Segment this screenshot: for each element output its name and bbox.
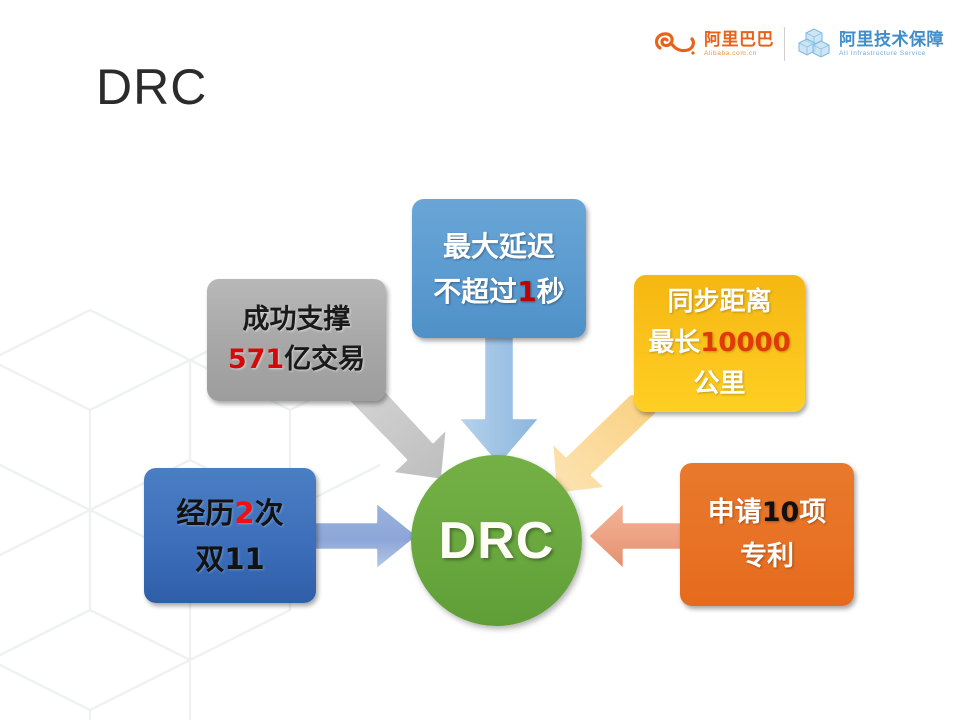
node-yellow-line-1: 同步距离 [667, 282, 771, 323]
cube-network-icon [795, 25, 833, 63]
alibaba-mark-icon [652, 27, 698, 61]
node-blue-max-latency[interactable]: 最大延迟 不超过1秒 [412, 199, 586, 338]
header-logo-bar: 阿里巴巴 Alibaba.com.cn 阿里技术保障 AI [652, 20, 944, 68]
infrastructure-logo-cn: 阿里技术保障 [839, 31, 944, 50]
node-gray-line-2: 571亿交易 [228, 340, 365, 380]
center-hub-label: DRC [439, 511, 555, 571]
node-yellow-sync-distance[interactable]: 同步距离 最长10000 公里 [634, 275, 805, 412]
slide-canvas: 阿里巴巴 Alibaba.com.cn 阿里技术保障 AI [0, 0, 960, 720]
node-orange-patents[interactable]: 申请10项 专利 [680, 463, 854, 606]
node-orange-line-1: 申请10项 [708, 491, 827, 535]
arrow-orange-to-center [588, 500, 688, 572]
arrow-blue-left-to-center [312, 500, 420, 572]
node-blue-left-line-2: 双11 [195, 536, 264, 582]
node-blue-left-line-1: 经历2次 [176, 490, 283, 536]
center-hub-drc[interactable]: DRC [411, 455, 582, 626]
node-blue-top-line-2: 不超过1秒 [433, 269, 565, 314]
arrow-blue-top-to-center [452, 330, 546, 470]
alibaba-logo-cn: 阿里巴巴 [704, 31, 774, 50]
node-yellow-line-2: 最长10000 [648, 323, 790, 364]
node-gray-line-1: 成功支撑 [243, 300, 351, 340]
infrastructure-logo: 阿里技术保障 AIl Infrastructure Service [795, 25, 944, 63]
node-blue-top-line-1: 最大延迟 [443, 224, 555, 269]
node-gray-transactions[interactable]: 成功支撑 571亿交易 [207, 279, 386, 401]
node-yellow-line-3: 公里 [693, 364, 745, 405]
logo-divider [784, 27, 785, 61]
page-title: DRC [96, 57, 207, 117]
node-orange-line-2: 专利 [740, 535, 794, 579]
node-blue-double-eleven[interactable]: 经历2次 双11 [144, 468, 316, 603]
infrastructure-logo-en: AIl Infrastructure Service [839, 50, 944, 58]
alibaba-logo: 阿里巴巴 Alibaba.com.cn [652, 27, 774, 61]
alibaba-logo-en: Alibaba.com.cn [704, 50, 774, 58]
